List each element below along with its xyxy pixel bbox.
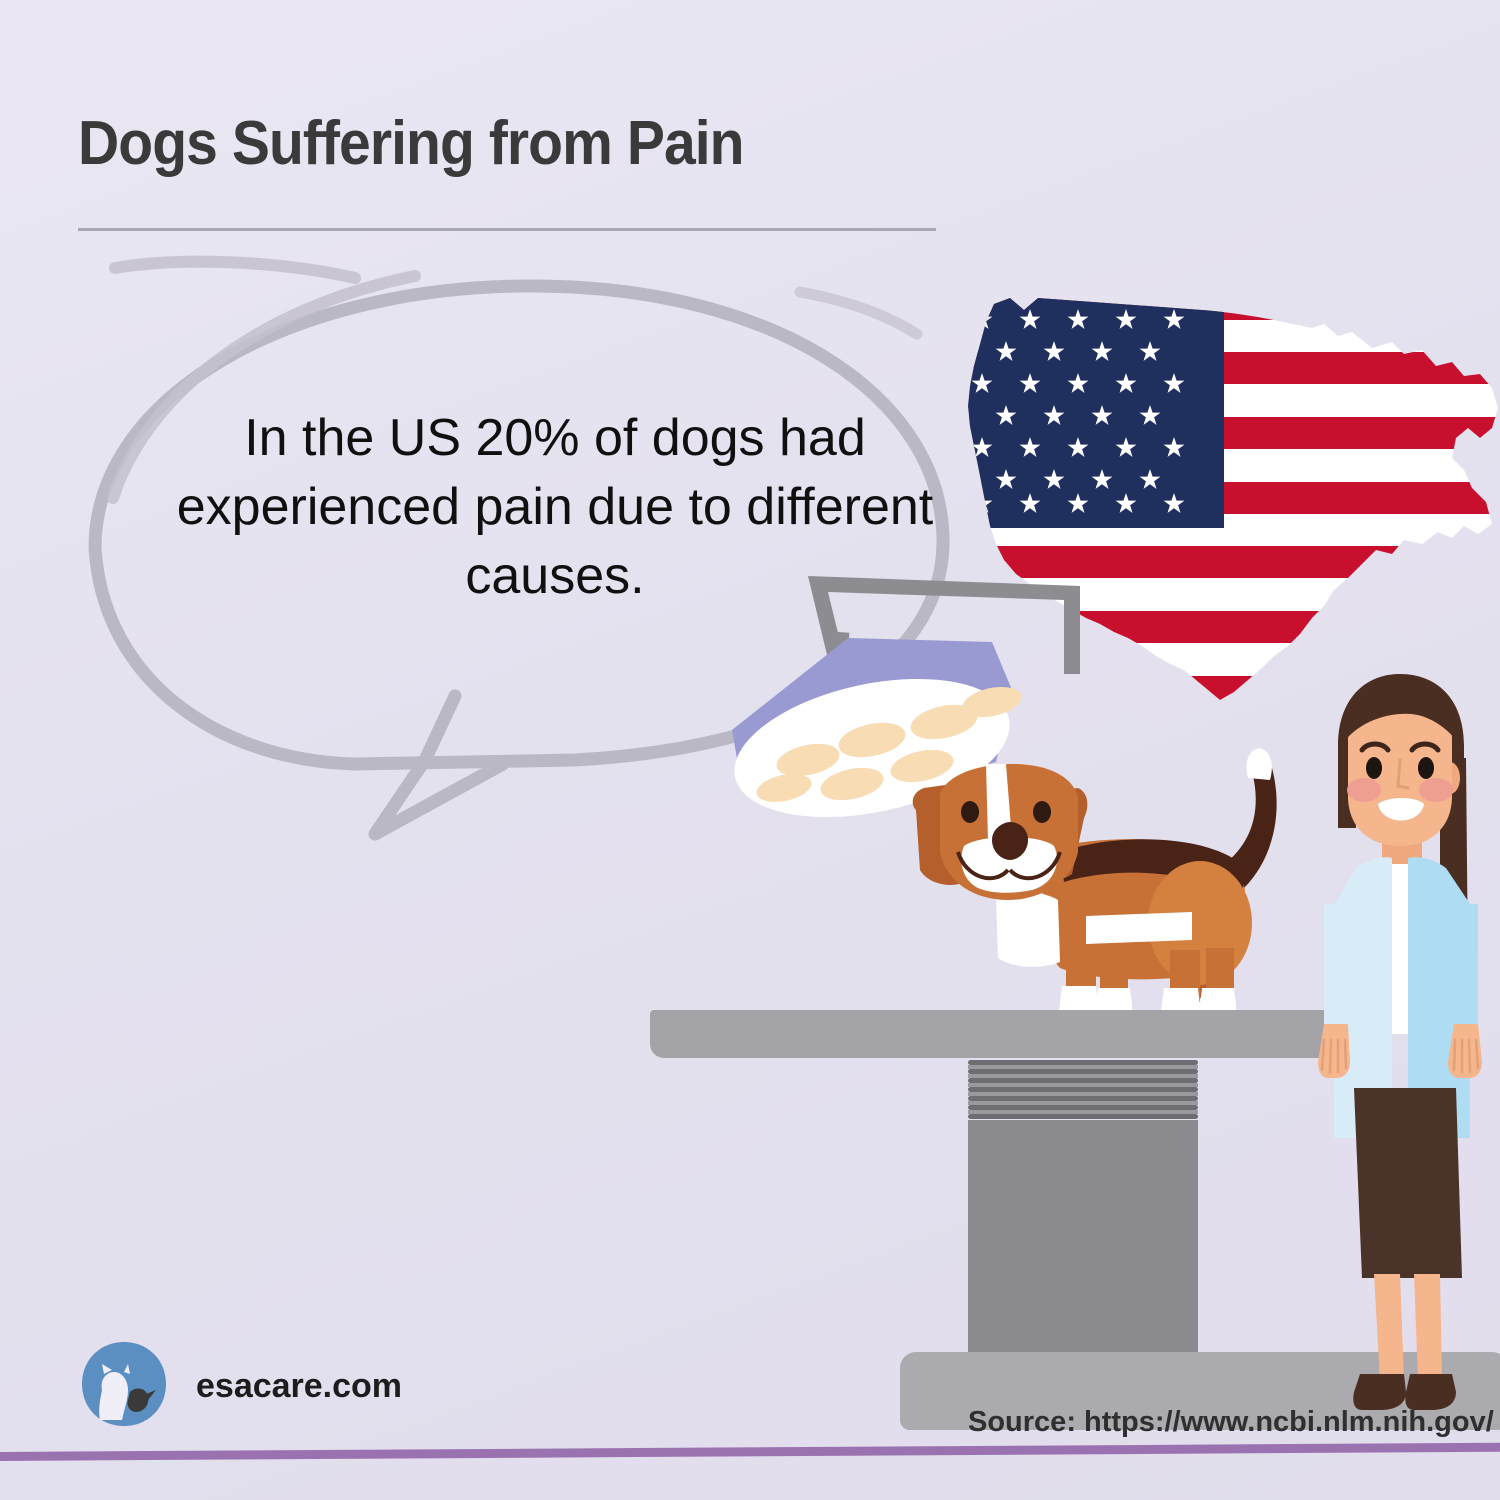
brand-footer[interactable]: esacare.com <box>78 1338 402 1435</box>
exam-table-top <box>650 1010 1340 1058</box>
brand-name: esacare.com <box>196 1367 402 1406</box>
infographic-canvas: Dogs Suffering from Pain In the US 20% o… <box>0 0 1500 1500</box>
source-label: Source: https://www.ncbi.nlm.nih.gov/ <box>968 1406 1494 1439</box>
veterinarian-woman <box>1300 668 1500 1428</box>
title-divider <box>78 228 936 231</box>
esacare-pet-logo-icon <box>78 1338 170 1435</box>
beagle-dog <box>900 748 1300 1048</box>
exam-table-column <box>968 1120 1198 1355</box>
footer-accent-line <box>0 1443 1500 1461</box>
page-title: Dogs Suffering from Pain <box>78 108 744 179</box>
exam-table-ribs <box>968 1060 1198 1122</box>
